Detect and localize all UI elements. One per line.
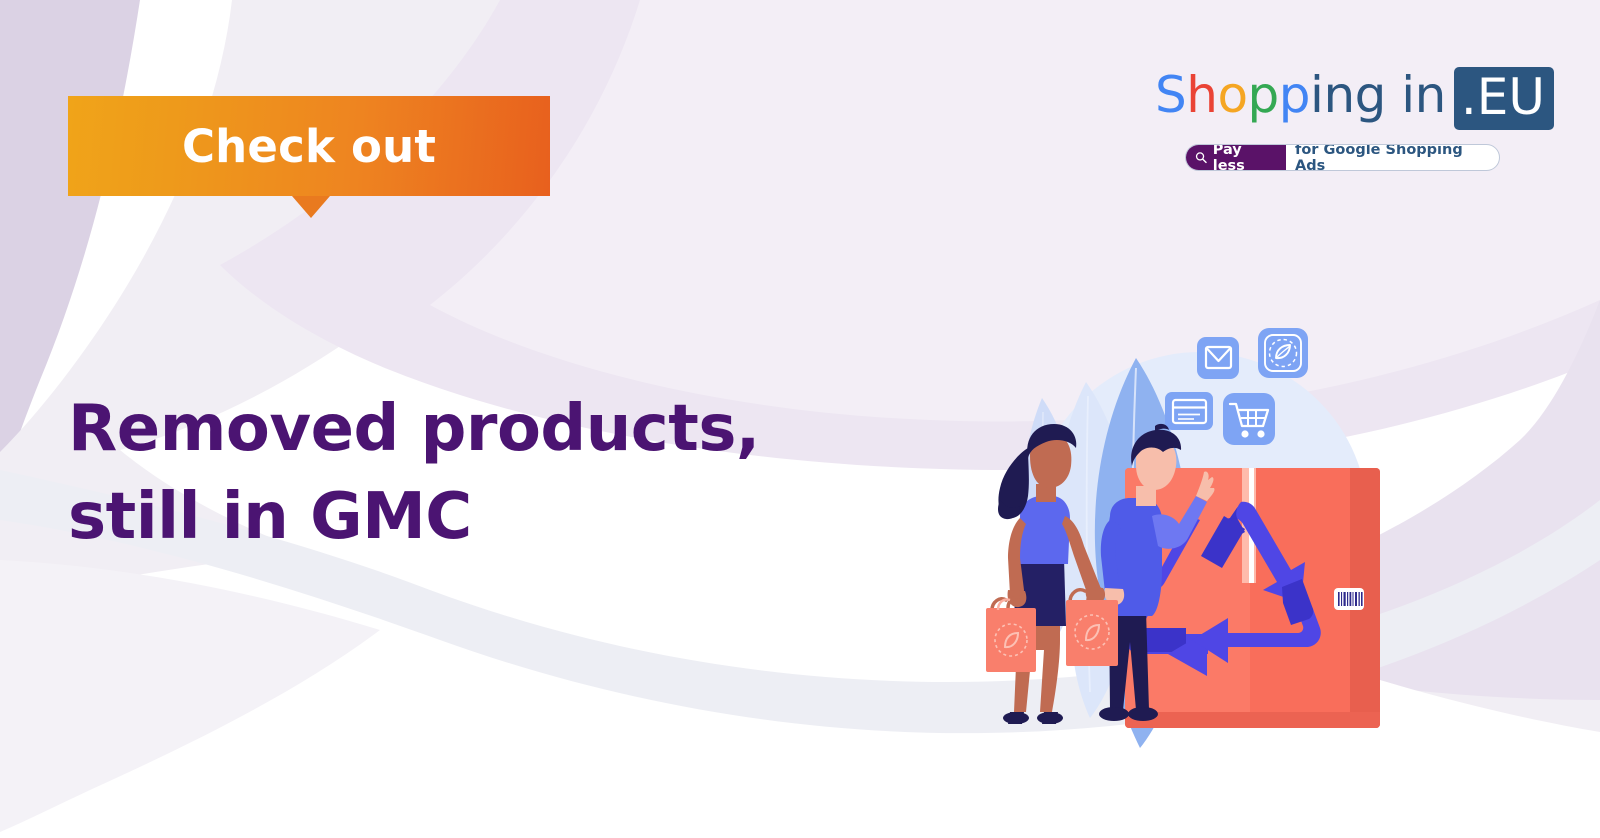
logo-letter-p2: p [1279, 66, 1310, 124]
shopping-bag-right [1066, 589, 1118, 666]
tagline-rest: for Google Shopping Ads [1286, 145, 1499, 170]
logo-wordmark: Shopping in.EU [1155, 70, 1554, 120]
headline-line-1: Removed products, [68, 392, 760, 466]
logo-eu-badge: .EU [1454, 67, 1554, 130]
check-out-label: Check out [182, 120, 436, 173]
brand-logo[interactable]: Shopping in.EU Pay less for Google Shopp… [1155, 70, 1500, 175]
floating-icon-envelope[interactable] [1197, 337, 1239, 379]
floating-icon-cart[interactable] [1223, 393, 1275, 445]
headline-line-2: still in GMC [68, 474, 888, 562]
check-out-banner-tail [292, 196, 330, 218]
banner-canvas: Check out Removed products, still in GMC… [0, 0, 1600, 838]
illustration-svg [960, 320, 1430, 760]
logo-letter-s: S [1155, 66, 1186, 124]
page-title: Removed products, still in GMC [68, 386, 888, 561]
logo-letter-h: h [1186, 66, 1217, 124]
floating-icon-card[interactable] [1165, 392, 1213, 430]
logo-text-ing-in: ing in [1310, 66, 1446, 124]
pay-less-chip: Pay less [1185, 144, 1286, 171]
logo-letter-o: o [1217, 66, 1247, 124]
pay-less-label: Pay less [1213, 144, 1275, 171]
check-out-banner[interactable]: Check out [68, 96, 550, 196]
hero-illustration [960, 320, 1430, 760]
search-icon [1195, 151, 1207, 164]
shopping-bag-left [986, 597, 1036, 672]
floating-icon-eco-leaf[interactable] [1258, 328, 1308, 378]
logo-tagline: Pay less for Google Shopping Ads [1185, 144, 1500, 171]
logo-letter-p1: p [1248, 66, 1279, 124]
barcode-label [1334, 588, 1364, 610]
